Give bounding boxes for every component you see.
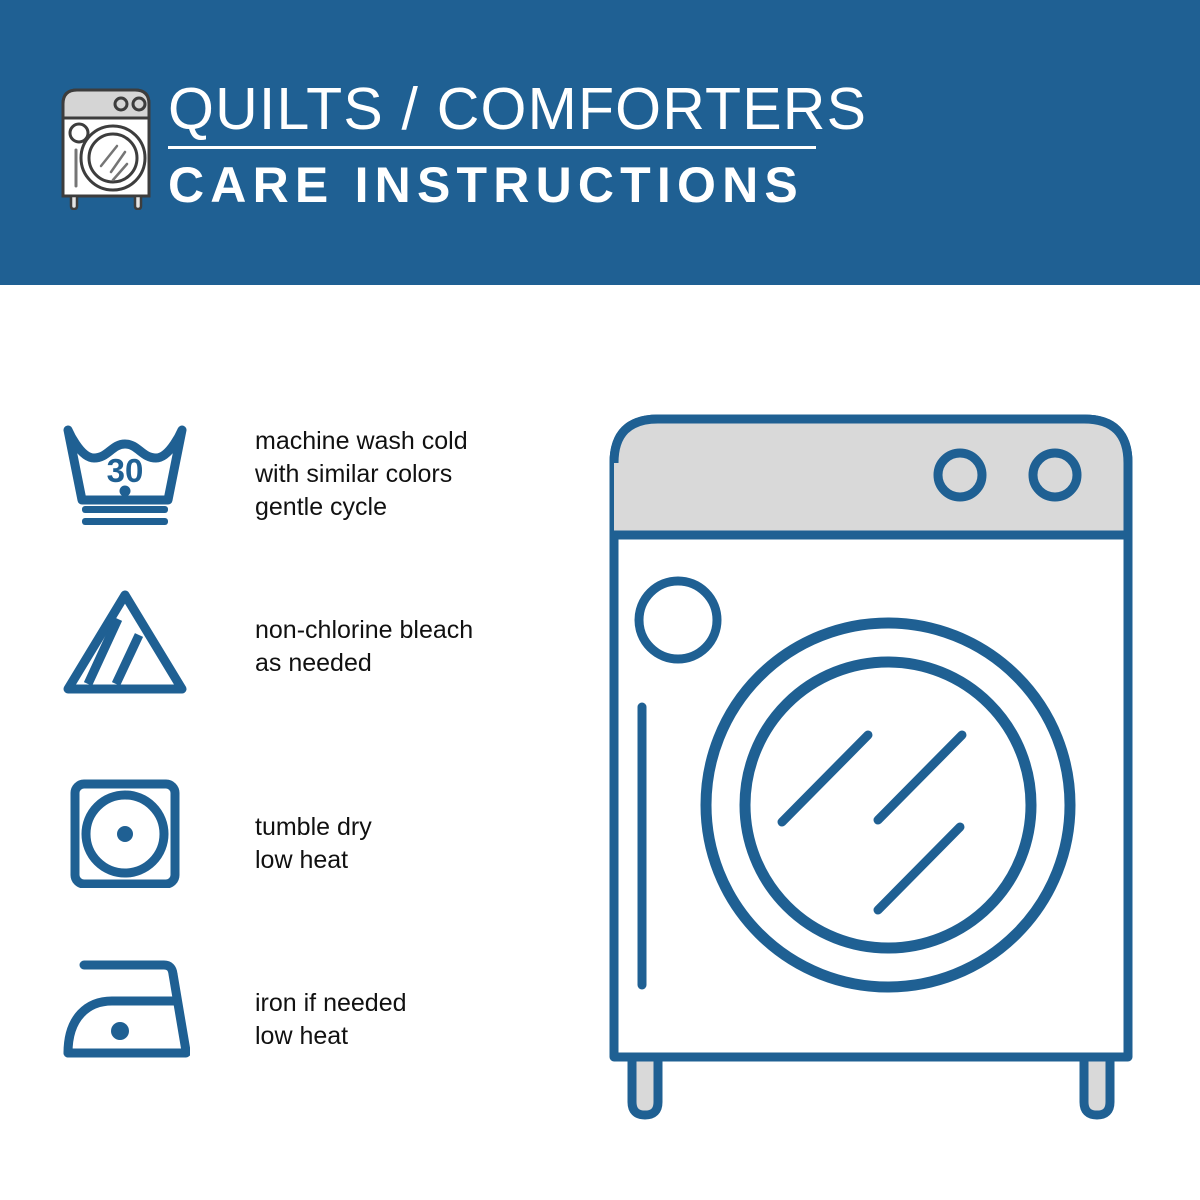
iron-low-heat-icon: [60, 955, 190, 1070]
tumble-dry-low-icon: [60, 778, 190, 893]
machine-wash-30-gentle-icon: 30: [60, 418, 190, 533]
non-chlorine-bleach-icon: [60, 585, 190, 700]
care-instructions-page: QUILTS / COMFORTERS CARE INSTRUCTIONS 30…: [0, 0, 1200, 1200]
washing-machine-icon: [55, 82, 157, 210]
washer-foot-left: [632, 1055, 658, 1115]
washer-foot-right: [1084, 1055, 1110, 1115]
care-instruction-row-iron: iron if needed low heat: [60, 955, 580, 1070]
header-divider: [168, 146, 816, 149]
care-instruction-text: machine wash cold with similar colors ge…: [255, 425, 468, 524]
care-instruction-row-tumble-dry: tumble dry low heat: [60, 778, 580, 893]
front-load-washing-machine-illustration: [600, 405, 1160, 1120]
washer-control-panel: [614, 419, 1128, 535]
page-title: QUILTS / COMFORTERS: [168, 78, 828, 140]
page-subtitle: CARE INSTRUCTIONS: [168, 158, 828, 212]
header-banner: QUILTS / COMFORTERS CARE INSTRUCTIONS: [0, 0, 1200, 285]
care-instruction-text: tumble dry low heat: [255, 811, 372, 877]
wash-temperature-value: 30: [107, 452, 144, 489]
care-instruction-text: iron if needed low heat: [255, 987, 407, 1053]
care-instruction-text: non-chlorine bleach as needed: [255, 614, 473, 680]
care-instruction-row-bleach: non-chlorine bleach as needed: [60, 585, 580, 700]
header-text-block: QUILTS / COMFORTERS CARE INSTRUCTIONS: [168, 78, 828, 212]
care-instruction-row-wash: 30 machine wash cold with similar colors…: [60, 418, 580, 533]
